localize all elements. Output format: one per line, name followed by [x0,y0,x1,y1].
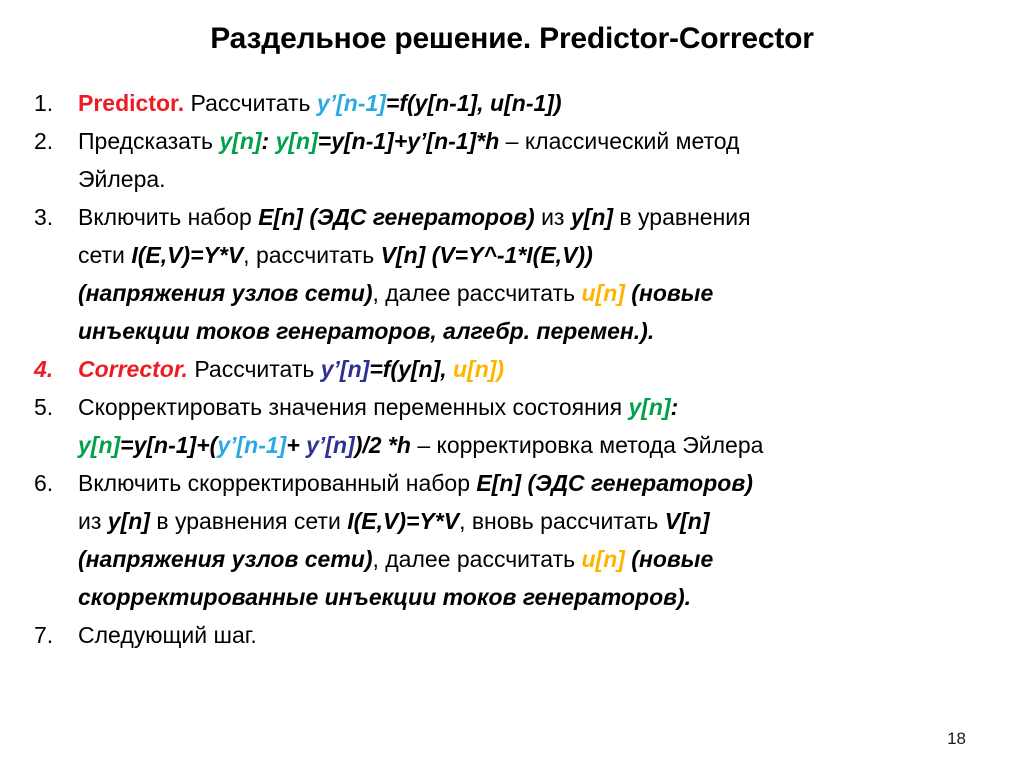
list-item-content: Corrector. Рассчитать y’[n]=f(y[n], u[n]… [78,350,1014,388]
text-run: =f(y[n], [369,356,453,382]
text-run: Включить набор [78,204,258,230]
text-run: Предсказать [78,128,219,154]
list-item-number: 6. [34,464,78,502]
list-item-content: Predictor. Рассчитать y’[n-1]=f(y[n-1], … [78,84,1014,122]
list-item: 4.Corrector. Рассчитать y’[n]=f(y[n], u[… [34,350,1014,388]
list-item-number: 1. [34,84,78,122]
text-run: V[n] [665,508,710,534]
list-item-line: инъекции токов генераторов, алгебр. пере… [78,312,1014,350]
list-item-line: (напряжения узлов сети), далее рассчитат… [78,540,1014,578]
text-run: y[n] [108,508,150,534]
text-run: : [671,394,679,420]
list-item: 3.Включить набор E[n] (ЭДС генераторов) … [34,198,1014,350]
list-item: 5.Скорректировать значения переменных со… [34,388,1014,464]
list-item-line: Предсказать y[n]: y[n]=y[n-1]+y’[n-1]*h … [78,122,1014,160]
text-run: Predictor. [78,90,184,116]
text-run: , далее рассчитать [372,280,581,306]
list-item-number: 7. [34,616,78,654]
text-run: (новые [625,280,713,306]
text-run: + [286,432,306,458]
slide-canvas: Раздельное решение. Predictor-Corrector … [0,0,1024,767]
text-run: – корректировка метода Эйлера [411,432,764,458]
list-item-line: Включить скорректированный набор E[n] (Э… [78,464,1014,502]
text-run: y[n] [628,394,670,420]
text-run: V[n] (V=Y^-1*I(E,V)) [381,242,593,268]
text-run: Рассчитать [188,356,321,382]
list-item-content: Включить скорректированный набор E[n] (Э… [78,464,1014,616]
list-item-line: скорректированные инъекции токов генерат… [78,578,1014,616]
list-item: 7.Следующий шаг. [34,616,1014,654]
text-run: (напряжения узлов сети) [78,280,372,306]
text-run: =y[n-1]+( [120,432,217,458]
text-run: y’[n] [321,356,370,382]
list-item-line: Эйлера. [78,160,1014,198]
list-item-line: Predictor. Рассчитать y’[n-1]=f(y[n-1], … [78,84,1014,122]
list-item-line: Следующий шаг. [78,616,1014,654]
text-run: )/2 *h [355,432,411,458]
list-item-line: Corrector. Рассчитать y’[n]=f(y[n], u[n]… [78,350,1014,388]
list-item-number: 5. [34,388,78,426]
list-item-line: сети I(E,V)=Y*V, рассчитать V[n] (V=Y^-1… [78,236,1014,274]
list-item-content: Включить набор E[n] (ЭДС генераторов) из… [78,198,1014,350]
text-run: скорректированные инъекции токов генерат… [78,584,691,610]
text-run: , далее рассчитать [372,546,581,572]
text-run: в уравнения сети [150,508,347,534]
text-run: y’[n-1] [217,432,286,458]
page-title: Раздельное решение. Predictor-Corrector [0,22,1024,56]
text-run: Следующий шаг. [78,622,257,648]
text-run: u[n] [582,280,625,306]
text-run: u[n]) [453,356,504,382]
text-run: y[n] [219,128,261,154]
list-item-number: 4. [34,350,78,388]
numbered-step-list: 1.Predictor. Рассчитать y’[n-1]=f(y[n-1]… [34,84,1014,654]
text-run: Включить скорректированный набор [78,470,476,496]
text-run: E[n] (ЭДС генераторов) [476,470,752,496]
text-run: u[n] [582,546,625,572]
list-item-line: (напряжения узлов сети), далее рассчитат… [78,274,1014,312]
list-item-content: Предсказать y[n]: y[n]=y[n-1]+y’[n-1]*h … [78,122,1014,198]
text-run: Эйлера. [78,166,166,192]
text-run: =y[n-1]+y’[n-1]*h [318,128,499,154]
list-item-line: Включить набор E[n] (ЭДС генераторов) из… [78,198,1014,236]
text-run: Скорректировать значения переменных сост… [78,394,628,420]
text-run: (напряжения узлов сети) [78,546,372,572]
text-run: : [262,128,276,154]
text-run: I(E,V)=Y*V [131,242,243,268]
text-run: Corrector. [78,356,188,382]
text-run: в уравнения [613,204,751,230]
text-run: , вновь рассчитать [459,508,665,534]
text-run: из [78,508,108,534]
text-run: =f(y[n-1], u[n-1]) [386,90,562,116]
list-item-line: y[n]=y[n-1]+(y’[n-1]+ y’[n])/2 *h – корр… [78,426,1014,464]
text-run: I(E,V)=Y*V [347,508,459,534]
text-run: – классический метод [499,128,739,154]
list-item-number: 2. [34,122,78,160]
list-item-line: Скорректировать значения переменных сост… [78,388,1014,426]
text-run: (новые [625,546,713,572]
text-run: E[n] (ЭДС генераторов) [258,204,534,230]
list-item-line: из y[n] в уравнения сети I(E,V)=Y*V, вно… [78,502,1014,540]
list-item-content: Скорректировать значения переменных сост… [78,388,1014,464]
text-run: y’[n] [306,432,355,458]
list-item: 2.Предсказать y[n]: y[n]=y[n-1]+y’[n-1]*… [34,122,1014,198]
list-item: 6.Включить скорректированный набор E[n] … [34,464,1014,616]
slide-page-number: 18 [947,729,966,749]
text-run: , рассчитать [243,242,380,268]
text-run: из [535,204,571,230]
text-run: сети [78,242,131,268]
list-item-number: 3. [34,198,78,236]
text-run: инъекции токов генераторов, алгебр. пере… [78,318,654,344]
text-run: y’[n-1] [317,90,386,116]
text-run: y[n] [571,204,613,230]
text-run: y[n] [78,432,120,458]
text-run: Рассчитать [184,90,317,116]
text-run: y[n] [276,128,318,154]
list-item-content: Следующий шаг. [78,616,1014,654]
list-item: 1.Predictor. Рассчитать y’[n-1]=f(y[n-1]… [34,84,1014,122]
